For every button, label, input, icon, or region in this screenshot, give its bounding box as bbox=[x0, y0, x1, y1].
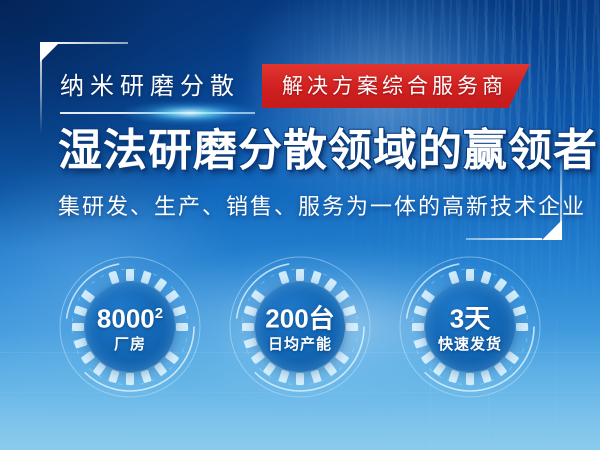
stat-badge: 3天 快速发货 bbox=[395, 252, 545, 402]
stat-badge: 200台 日均产能 bbox=[225, 252, 375, 402]
corner-triangle-icon bbox=[40, 42, 60, 62]
bracket-line-horizontal bbox=[466, 238, 542, 240]
badge-value: 200台 bbox=[265, 299, 334, 334]
bracket-line-horizontal bbox=[56, 42, 128, 44]
stat-badge: 80002 厂房 bbox=[55, 252, 205, 402]
stats-row: 80002 厂房 bbox=[0, 252, 600, 402]
badge-text: 3天 快速发货 bbox=[395, 252, 545, 402]
promo-banner: 纳米研磨分散 解决方案综合服务商 湿法研磨分散领域的赢领者 集研发、生产、销售、… bbox=[0, 0, 600, 450]
page-title: 湿法研磨分散领域的赢领者 bbox=[58, 124, 568, 178]
badge-value: 80002 bbox=[97, 299, 163, 334]
page-subtitle: 集研发、生产、销售、服务为一体的高新技术企业 bbox=[58, 192, 568, 222]
badge-label: 日均产能 bbox=[268, 335, 332, 355]
corner-triangle-icon bbox=[542, 220, 562, 240]
badge-label: 快速发货 bbox=[438, 335, 502, 355]
tagline-row: 纳米研磨分散 解决方案综合服务商 bbox=[0, 64, 600, 110]
red-ribbon-label: 解决方案综合服务商 bbox=[282, 64, 507, 108]
badge-value: 3天 bbox=[450, 299, 490, 334]
badge-text: 200台 日均产能 bbox=[225, 252, 375, 402]
badge-text: 80002 厂房 bbox=[55, 252, 205, 402]
divider-glow-flare bbox=[125, 102, 255, 124]
badge-superscript: 2 bbox=[155, 305, 163, 322]
badge-label: 厂房 bbox=[114, 335, 146, 355]
red-ribbon: 解决方案综合服务商 bbox=[262, 64, 530, 108]
